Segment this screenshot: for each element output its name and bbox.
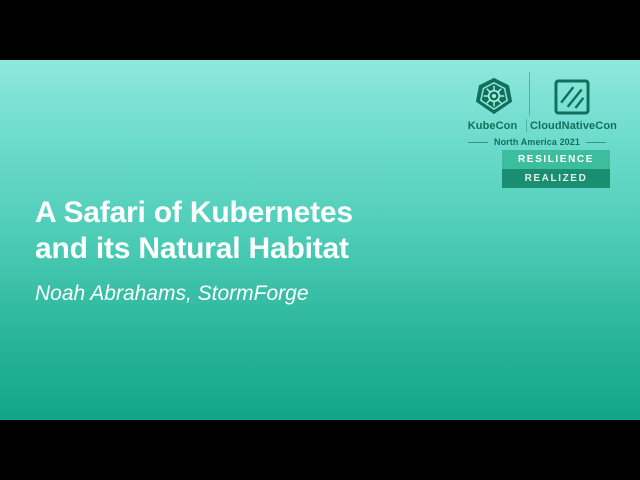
- presenter-affiliation: Noah Abrahams, StormForge: [35, 281, 455, 307]
- conference-logo-lockup: KubeCon CloudNativeCon North America 202…: [462, 68, 612, 147]
- cloudnativecon-wordmark: CloudNativeCon: [530, 120, 612, 132]
- tagline-text-realized: REALIZED: [525, 173, 588, 184]
- talk-title-line-1: A Safari of Kubernetes: [35, 195, 455, 231]
- cloudnativecon-logo-cell: [533, 78, 612, 116]
- wordmark-row: KubeCon CloudNativeCon: [462, 119, 612, 132]
- kubecon-logo-cell: [462, 76, 526, 116]
- wordmark-divider: [526, 119, 527, 132]
- conference-edition-row: North America 2021: [462, 137, 612, 147]
- video-slide-frame: KubeCon CloudNativeCon North America 202…: [0, 0, 640, 480]
- slide-canvas: KubeCon CloudNativeCon North America 202…: [0, 60, 640, 420]
- conference-edition-label: North America 2021: [494, 137, 580, 147]
- tagline-badge: RESILIENCE REALIZED: [502, 150, 610, 188]
- tagline-band-resilience: RESILIENCE: [502, 150, 610, 169]
- kubernetes-helm-icon: [474, 76, 514, 116]
- logo-divider: [529, 72, 530, 116]
- cncf-diagonal-square-icon: [553, 78, 591, 116]
- edition-rule-right: [586, 142, 606, 143]
- title-block: A Safari of Kubernetes and its Natural H…: [35, 195, 455, 307]
- kubecon-wordmark: KubeCon: [462, 120, 523, 132]
- letterbox-bar-bottom: [0, 420, 640, 480]
- tagline-band-realized: REALIZED: [502, 169, 610, 188]
- logo-mark-row: [462, 68, 612, 116]
- talk-title-line-2: and its Natural Habitat: [35, 231, 455, 267]
- edition-rule-left: [468, 142, 488, 143]
- letterbox-bar-top: [0, 0, 640, 60]
- tagline-text-resilience: RESILIENCE: [518, 154, 594, 165]
